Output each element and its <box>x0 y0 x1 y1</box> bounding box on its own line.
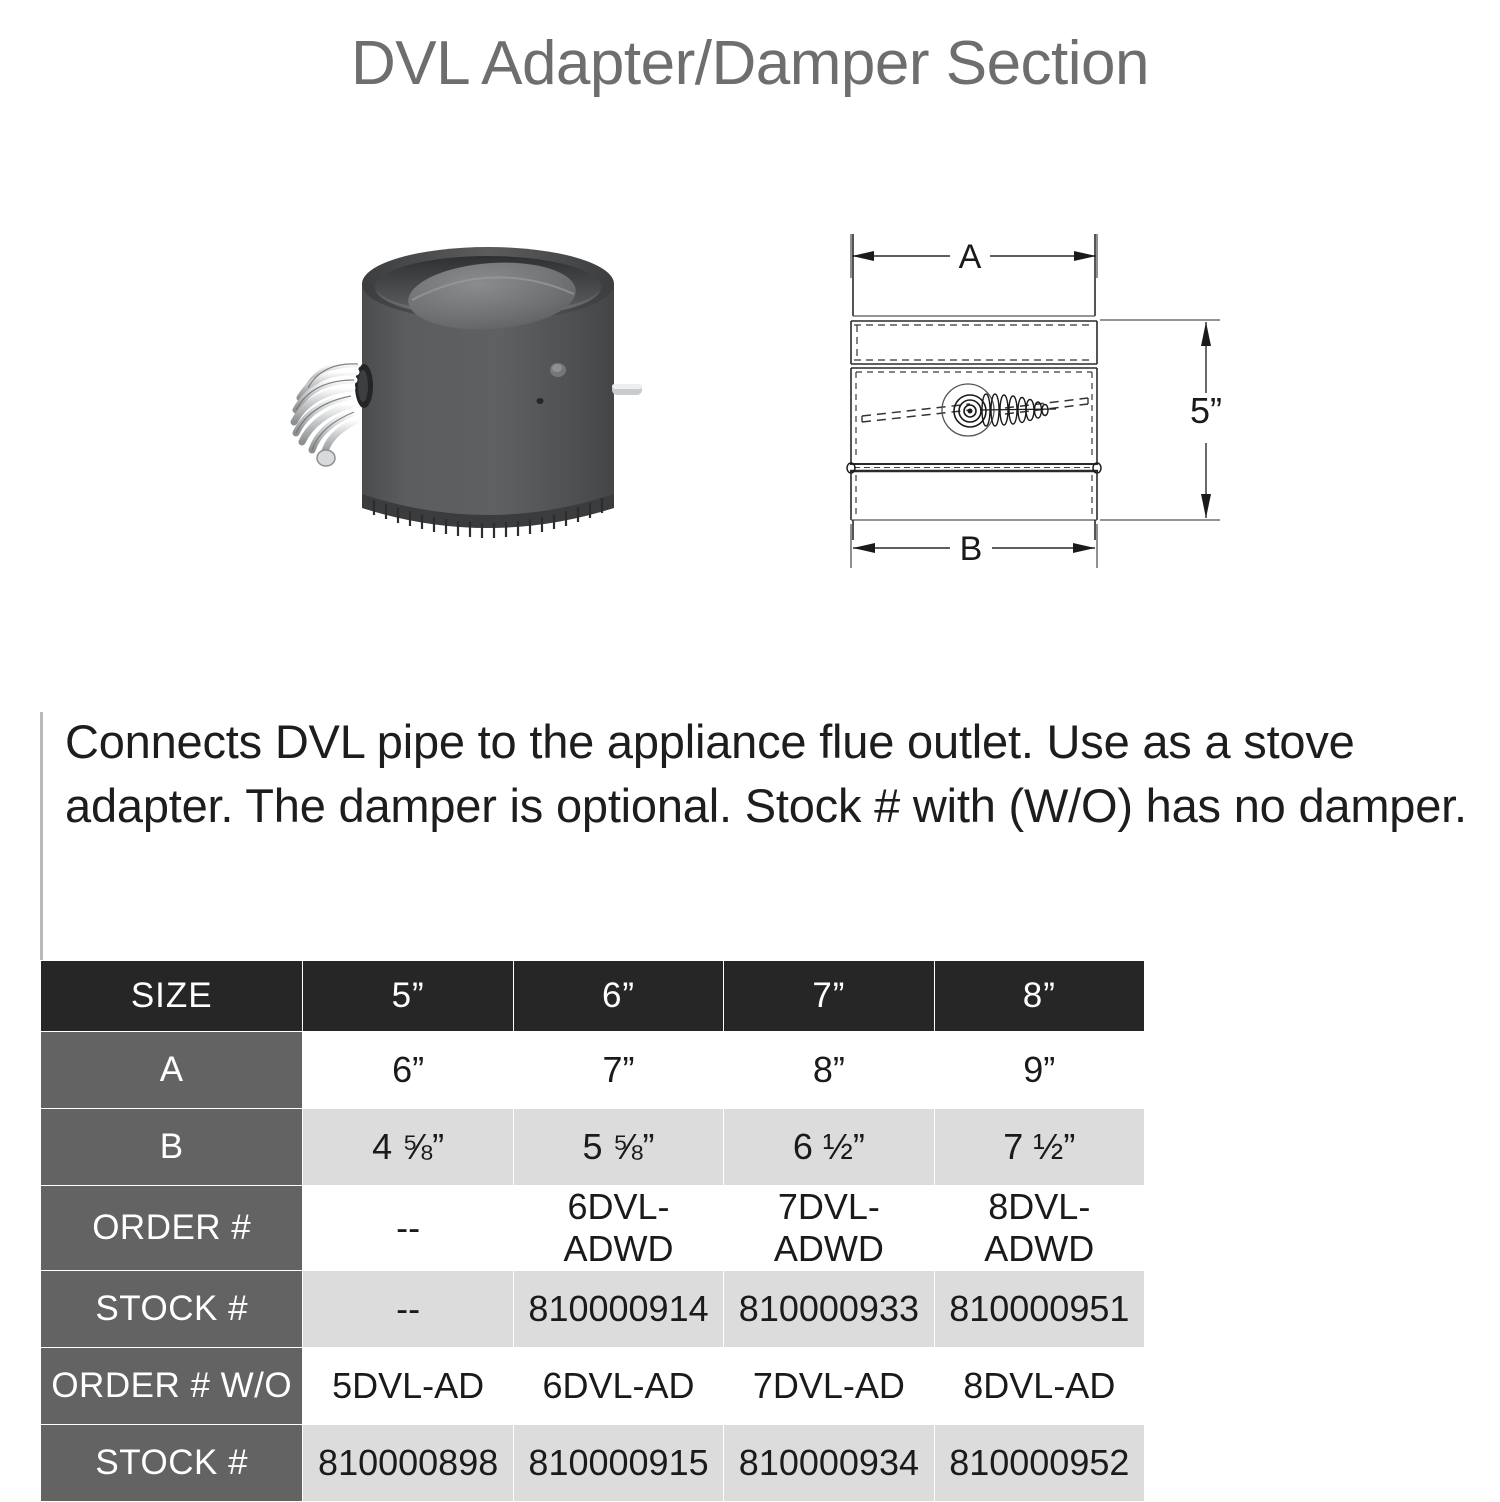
cell-stock-wo-6: 810000915 <box>513 1425 723 1502</box>
description-text: Connects DVL pipe to the appliance flue … <box>65 710 1475 838</box>
cell-b-6: 5 ⅝” <box>513 1109 723 1186</box>
row-label-a: A <box>41 1032 303 1109</box>
cell-order-6: 6DVL-ADWD <box>513 1186 723 1271</box>
cell-order-wo-7: 7DVL-AD <box>724 1348 934 1425</box>
pin-hole <box>537 398 544 404</box>
row-label-b: B <box>41 1109 303 1186</box>
description-block: Connects DVL pipe to the appliance flue … <box>40 712 1480 960</box>
spring-end-cap <box>317 450 335 466</box>
dimension-b-label: B <box>960 530 983 568</box>
header-cell-size-6: 6” <box>513 961 723 1032</box>
cell-stock-wo-5: 810000898 <box>303 1425 513 1502</box>
table-row: STOCK # -- 810000914 810000933 810000951 <box>41 1271 1145 1348</box>
damper-rod-stub <box>612 384 642 395</box>
dimension-height-label: 5” <box>1190 390 1222 431</box>
row-label-order: ORDER # <box>41 1186 303 1271</box>
cell-a-6: 7” <box>513 1032 723 1109</box>
cell-order-7: 7DVL-ADWD <box>724 1186 934 1271</box>
cell-order-5: -- <box>303 1186 513 1271</box>
specification-table: SIZE 5” 6” 7” 8” A 6” 7” 8” 9” B 4 ⅝” 5 … <box>40 960 1145 1502</box>
cell-order-8: 8DVL-ADWD <box>934 1186 1144 1271</box>
cell-stock-7: 810000933 <box>724 1271 934 1348</box>
cell-stock-6: 810000914 <box>513 1271 723 1348</box>
header-cell-size-8: 8” <box>934 961 1144 1032</box>
table-row: B 4 ⅝” 5 ⅝” 6 ½” 7 ½” <box>41 1109 1145 1186</box>
cell-stock-wo-8: 810000952 <box>934 1425 1144 1502</box>
collar-band <box>851 321 1097 364</box>
coil-spring-handle <box>294 364 358 455</box>
table-row: STOCK # 810000898 810000915 810000934 81… <box>41 1425 1145 1502</box>
cell-stock-8: 810000951 <box>934 1271 1144 1348</box>
row-label-stock-wo: STOCK # <box>41 1425 303 1502</box>
row-label-stock: STOCK # <box>41 1271 303 1348</box>
cell-order-wo-8: 8DVL-AD <box>934 1348 1144 1425</box>
cell-a-5: 6” <box>303 1032 513 1109</box>
product-photo <box>262 236 714 566</box>
cell-a-8: 9” <box>934 1032 1144 1109</box>
lower-seam-band <box>847 463 1101 473</box>
cell-b-5: 4 ⅝” <box>303 1109 513 1186</box>
table-row: ORDER # W/O 5DVL-AD 6DVL-AD 7DVL-AD 8DVL… <box>41 1348 1145 1425</box>
technical-drawing: A B 5” <box>820 228 1270 588</box>
cell-a-7: 8” <box>724 1032 934 1109</box>
cell-stock-5: -- <box>303 1271 513 1348</box>
dimension-a-label: A <box>959 238 982 276</box>
cell-order-wo-6: 6DVL-AD <box>513 1348 723 1425</box>
header-cell-size-5: 5” <box>303 961 513 1032</box>
cell-b-8: 7 ½” <box>934 1109 1144 1186</box>
row-label-order-wo: ORDER # W/O <box>41 1348 303 1425</box>
table-row: ORDER # -- 6DVL-ADWD 7DVL-ADWD 8DVL-ADWD <box>41 1186 1145 1271</box>
header-cell-size-7: 7” <box>724 961 934 1032</box>
table-row: A 6” 7” 8” 9” <box>41 1032 1145 1109</box>
page-title: DVL Adapter/Damper Section <box>0 28 1500 99</box>
table-header-row: SIZE 5” 6” 7” 8” <box>41 961 1145 1032</box>
cell-stock-wo-7: 810000934 <box>724 1425 934 1502</box>
header-cell-size: SIZE <box>41 961 303 1032</box>
cell-order-wo-5: 5DVL-AD <box>303 1348 513 1425</box>
cell-b-7: 6 ½” <box>724 1109 934 1186</box>
